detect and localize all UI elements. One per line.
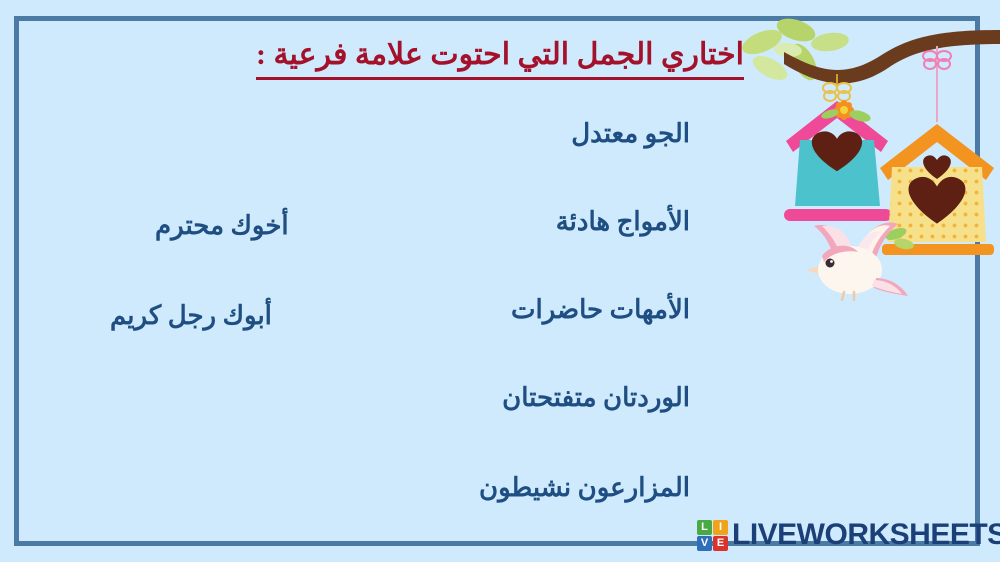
page-border-frame [14,16,980,546]
sentence-option[interactable]: أبوك رجل كريم [110,300,272,331]
bird-body [818,246,882,294]
sentence-option[interactable]: الأمهات حاضرات [511,294,690,325]
heart-hole [909,177,966,224]
bird-head-cap [822,246,858,262]
heart-hole [812,131,862,171]
logo-tile-v: V [697,536,712,551]
sentence-option[interactable]: الجو معتدل [571,118,690,149]
logo-tile-i: I [713,520,728,535]
page-title: اختاري الجمل التي احتوت علامة فرعية : [0,36,1000,80]
bird-beak [806,266,818,274]
worksheet-page: اختاري الجمل التي احتوت علامة فرعية : ال… [0,0,1000,562]
page-title-text: اختاري الجمل التي احتوت علامة فرعية : [256,36,744,80]
flying-bird-illustration [792,208,922,316]
bird-wing-back [814,225,852,254]
bird-feet [842,292,854,300]
birdhouse-teal [784,74,892,221]
heart-hole-small [923,155,951,179]
bird-tail [874,278,908,296]
bird-eye [826,259,835,268]
sentence-option[interactable]: المزارعون نشيطون [479,472,690,503]
sentence-option[interactable]: الأمواج هادئة [556,206,690,237]
logo-letter-tiles: L I V E [697,520,728,551]
sentence-option[interactable]: الوردتان متفتحتان [502,382,690,413]
logo-tile-e: E [713,536,728,551]
logo-wordmark: LIVEWORKSHEETS [732,520,1000,550]
flower-icon [820,99,872,123]
liveworksheets-logo[interactable]: L I V E LIVEWORKSHEETS [697,518,1000,552]
bow-knot-icon [823,83,851,101]
bird-wing-front [854,222,898,264]
sentence-option[interactable]: أخوك محترم [155,210,289,241]
logo-tile-l: L [697,520,712,535]
